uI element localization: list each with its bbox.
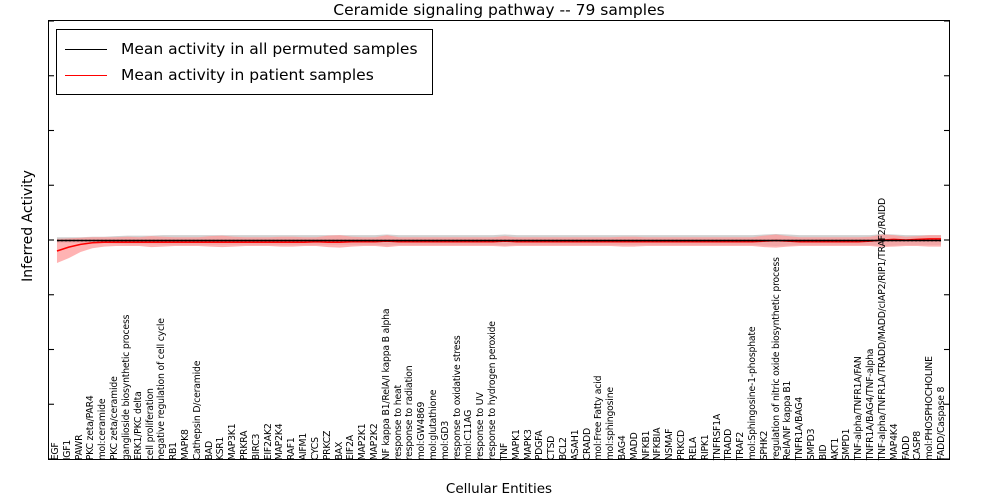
x-tick-label: regulation of nitric oxide biosynthetic …	[772, 257, 781, 460]
legend-line-icon-permuted	[65, 49, 107, 50]
x-tick-label: SPHK2	[760, 430, 769, 460]
x-tick-label: SMPD1	[843, 428, 852, 460]
x-tick-label: RB1	[169, 442, 178, 460]
patient-confidence-band	[57, 235, 941, 263]
x-tick-label: FADD/Caspase 8	[937, 386, 946, 460]
x-tick-label: response to heat	[394, 385, 403, 460]
x-tick-label: PRKRA	[240, 430, 249, 460]
figure-canvas: Ceramide signaling pathway -- 79 samples…	[0, 0, 1000, 500]
x-tick-label: EIF2A	[346, 435, 355, 460]
legend-entry-permuted: Mean activity in all permuted samples	[65, 36, 418, 62]
x-tick-label: TRAF2	[736, 432, 745, 460]
x-tick-label: PRKCZ	[323, 430, 332, 460]
x-tick-label: PKC zeta/PAR4	[87, 395, 96, 460]
x-tick-label: FADD	[902, 436, 911, 460]
legend: Mean activity in all permuted samples Me…	[56, 29, 433, 95]
x-tick-label: TNFR1A/BAG4/TNF-alpha	[866, 348, 875, 460]
x-tick-label: CYCS	[311, 437, 320, 460]
x-tick-label: RELA	[689, 437, 698, 460]
x-tick-label: CASP8	[913, 431, 922, 460]
legend-entry-patient: Mean activity in patient samples	[65, 62, 418, 88]
x-tick-label: response to oxidative stress	[453, 335, 462, 460]
x-tick-label: RIPK1	[701, 434, 710, 460]
x-tick-label: negative regulation of cell cycle	[157, 318, 166, 460]
x-tick-label: NF kappa B1/RelA/I kappa B alpha	[382, 308, 391, 460]
x-axis-title: Cellular Entities	[48, 481, 950, 497]
x-tick-label: NFKBIA	[654, 427, 663, 460]
legend-line-icon-patient	[65, 75, 107, 76]
x-tick-label: ganglioside biosynthetic process	[122, 314, 131, 460]
x-tick-label: ERK1/PKC delta	[134, 391, 143, 460]
y-axis-title: Inferred Activity	[20, 6, 36, 446]
x-tick-label: response to UV	[476, 392, 485, 460]
x-tick-label: BAG4	[618, 435, 627, 460]
x-tick-label: mol:sphingosine	[606, 387, 615, 460]
x-tick-label: BID	[819, 444, 828, 460]
x-tick-label: CTSD	[547, 436, 556, 460]
x-tick-label: MAP3K1	[228, 423, 237, 460]
x-tick-label: TNF	[500, 443, 509, 460]
x-tick-label: RelA/NF kappa B1	[784, 380, 793, 460]
x-tick-label: NFKB1	[642, 430, 651, 460]
x-tick-label: MAP2K2	[370, 423, 379, 460]
legend-label-patient: Mean activity in patient samples	[121, 66, 374, 84]
x-tick-label: mol:PHOSPHOCHOLINE	[925, 356, 934, 460]
x-tick-label: SMPD3	[807, 428, 816, 460]
x-tick-label: cell proliferation	[146, 388, 155, 460]
x-tick-label: mol:glutathione	[429, 389, 438, 460]
x-tick-label: MAPK3	[524, 429, 533, 460]
x-tick-label: KSR1	[216, 436, 225, 460]
x-tick-label: CRADD	[583, 428, 592, 460]
x-tick-label: mol:GD3	[441, 421, 450, 460]
x-tick-label: AIFM1	[299, 433, 308, 460]
x-tick-label: BIRC3	[252, 433, 261, 460]
x-tick-label: mol:ceramide	[98, 398, 107, 460]
x-tick-label: response to hydrogen peroxide	[488, 321, 497, 460]
x-tick-label: BAX	[335, 441, 344, 460]
x-tick-label: AKT1	[831, 437, 840, 460]
x-tick-label: MAP4K4	[890, 423, 899, 460]
x-tick-label: MAP2K4	[276, 423, 285, 460]
x-tick-label: response to radiation	[405, 365, 414, 460]
x-tick-label: MAPK8	[181, 429, 190, 460]
x-tick-label: IGF1	[63, 440, 72, 460]
x-tick-label: Cathepsin D/ceramide	[193, 360, 202, 460]
x-tick-label: BAD	[205, 441, 214, 460]
legend-label-permuted: Mean activity in all permuted samples	[121, 40, 418, 58]
x-tick-label: EIF2AK2	[264, 423, 273, 460]
x-tick-label: mol:GW4869	[417, 401, 426, 460]
x-tick-label: TRADD	[724, 429, 733, 460]
x-tick-label: TNF-alpha/TNFR1A/TRADD/MADD/cIAP2/RIP1/T…	[878, 198, 887, 460]
x-tick-label: NSMAF	[665, 428, 674, 460]
x-tick-label: mol:C11AG	[465, 410, 474, 460]
x-tick-label: ASAH1	[571, 429, 580, 460]
x-tick-label: mol:Sphingosine-1-phosphate	[748, 326, 757, 460]
x-tick-label: PKC zeta/ceramide	[110, 376, 119, 460]
x-tick-label: BCL2	[559, 437, 568, 460]
x-tick-label: RAF1	[287, 437, 296, 460]
x-tick-label: MADD	[630, 432, 639, 460]
x-tick-label: TNF-alpha/TNFR1A/FAN	[854, 356, 863, 460]
x-tick-label: MAP2K1	[358, 423, 367, 460]
chart-title: Ceramide signaling pathway -- 79 samples	[48, 1, 950, 19]
x-tick-label: TNFR1A/BAG4	[795, 397, 804, 460]
x-tick-label: MAPK1	[512, 429, 521, 460]
x-tick-label: PDGFA	[535, 430, 544, 460]
x-tick-label: PRKCD	[677, 430, 686, 460]
x-tick-label: PAWR	[75, 434, 84, 460]
x-tick-label: mol:Free Fatty acid	[595, 375, 604, 460]
x-tick-label: TNFRSF1A	[713, 414, 722, 460]
x-tick-label: EGF	[51, 442, 60, 460]
